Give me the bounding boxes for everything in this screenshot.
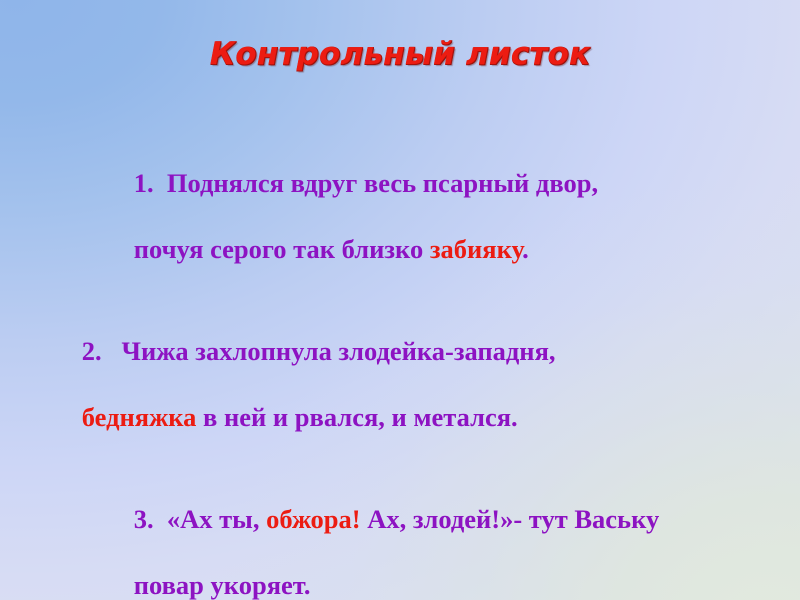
highlight-word: обжора! (266, 504, 360, 534)
list-item-text: «Ах ты, (167, 504, 266, 534)
page-title: Контрольный листок (210, 36, 591, 72)
list-item: 2. Чижа захлопнула злодейка-западня, бед… (42, 302, 766, 467)
list-item-text: . (522, 234, 529, 264)
list-item-number: 3. (134, 504, 154, 534)
list-item-number: 2. (82, 336, 102, 366)
list-item: 1. Поднялся вдруг весь псарный двор, поч… (42, 134, 766, 299)
list-item-number: 1. (134, 168, 154, 198)
list-item-text: в ней и рвался, и метался. (196, 402, 517, 432)
numbered-list: 1. Поднялся вдруг весь псарный двор, поч… (42, 134, 766, 600)
title-container: Контрольный листок (0, 36, 800, 72)
list-item-text: Поднялся вдруг весь псарный двор, (167, 168, 598, 198)
list-item-text: почуя серого так близко (134, 234, 430, 264)
list-item: 3. «Ах ты, обжора! Ах, злодей!»- тут Вас… (42, 470, 766, 600)
highlight-word: забияку (430, 234, 522, 264)
list-item-spacer (154, 504, 167, 534)
slide-canvas: Контрольный листок 1. Поднялся вдруг вес… (0, 0, 800, 600)
list-item-text: Ах, злодей!»- тут Ваську (361, 504, 660, 534)
list-item-spacer (154, 168, 167, 198)
list-item-text: Чижа захлопнула злодейка-западня, (102, 336, 556, 366)
highlight-word: бедняжка (82, 402, 197, 432)
list-item-text: повар укоряет. (134, 570, 311, 600)
